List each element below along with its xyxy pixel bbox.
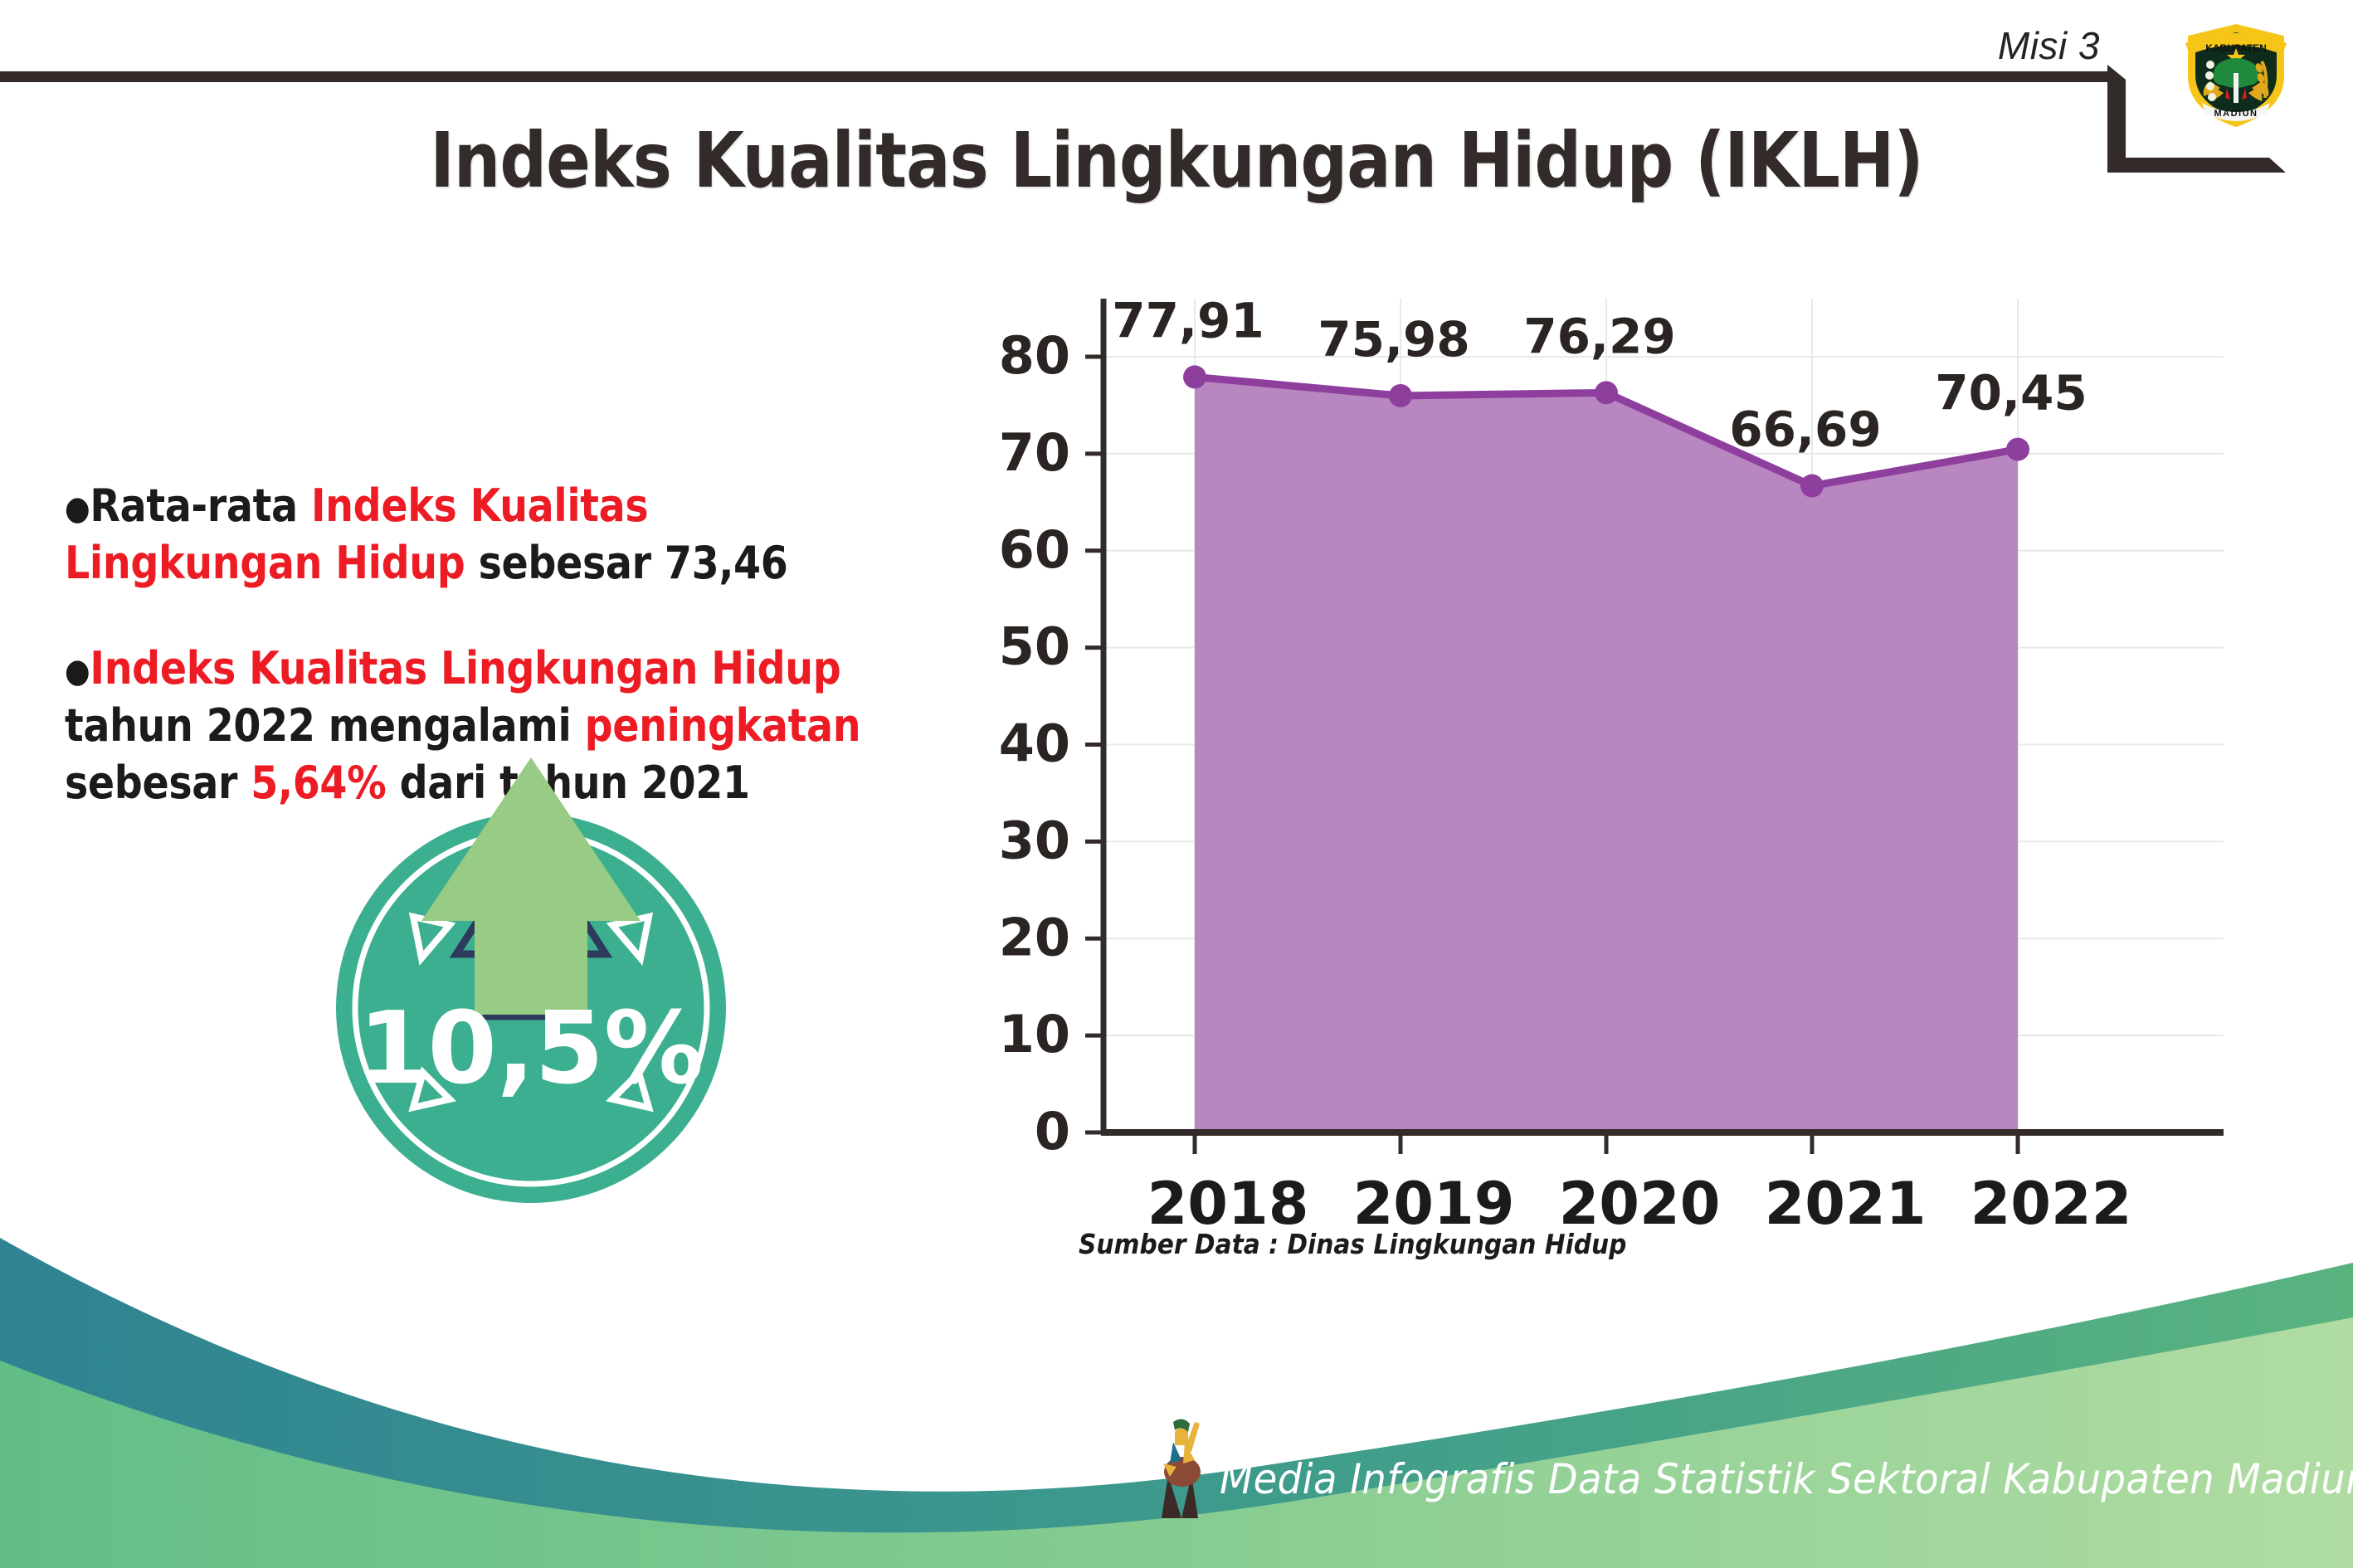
page-title: Indeks Kualitas Lingkungan Hidup (IKLH) <box>165 116 2189 205</box>
chart-value-label: 77,91 <box>1112 292 1264 348</box>
chart-y-tick-label: 0 <box>1035 1101 1070 1161</box>
slide-canvas: Misi 3 KABUPATEN <box>0 0 2353 1568</box>
chart-y-tick-label: 70 <box>999 422 1070 483</box>
bullet-dot-icon: ● <box>65 489 90 528</box>
increase-badge: 10,5% 10,5% <box>324 751 738 1215</box>
bullet-1-seg-2: sebesar 73,46 <box>465 537 787 589</box>
chart-y-tick-label: 50 <box>999 616 1070 677</box>
bullet-2-seg-1: tahun 2022 mengalami <box>65 699 585 752</box>
list-item: ●Rata-rata Indeks Kualitas Lingkungan Hi… <box>65 477 860 592</box>
bullet-dot-icon: ● <box>65 652 90 690</box>
badge-graphic: 10,5% <box>324 751 738 1215</box>
bullet-2-seg-2: peningkatan <box>585 699 861 752</box>
header-divider-rule <box>0 71 2112 82</box>
svg-text:10,5%: 10,5% <box>358 991 704 1107</box>
chart-y-tick-label: 60 <box>999 519 1070 580</box>
chart-marker <box>1595 381 1618 404</box>
bullet-2-seg-0: Indeks Kualitas Lingkungan Hidup <box>90 642 840 694</box>
chart-value-label: 70,45 <box>1935 365 2087 421</box>
chart-y-tick-label: 20 <box>999 907 1070 967</box>
chart-y-tick-label: 40 <box>999 713 1070 774</box>
misi-label: Misi 3 <box>1998 23 2100 68</box>
kabupaten-madiun-logo-icon: KABUPATEN MADIUN <box>2174 10 2298 134</box>
footer-caption: Media Infografis Data Statistik Sektoral… <box>1220 1455 2353 1503</box>
chart-value-label: 75,98 <box>1318 311 1469 368</box>
chart-value-label: 76,29 <box>1523 308 1675 364</box>
svg-text:MADIUN: MADIUN <box>2214 109 2258 119</box>
chart-marker <box>1800 475 1824 498</box>
bullet-1-seg-0: Rata-rata <box>90 480 310 532</box>
iklh-area-chart: 77,9175,9876,2966,6970,45 01020304050607… <box>979 274 2240 1269</box>
chart-marker <box>1389 384 1412 407</box>
chart-y-tick-label: 10 <box>999 1004 1070 1064</box>
chart-area-fill <box>1195 377 2018 1132</box>
chart-marker <box>1183 365 1206 388</box>
bullet-2-seg-3: sebesar <box>65 757 251 809</box>
chart-y-tick-label: 30 <box>999 810 1070 870</box>
chart-marker <box>2006 438 2029 461</box>
chart-y-tick-label: 80 <box>999 325 1070 386</box>
chart-value-label: 66,69 <box>1729 402 1881 458</box>
chart-y-axis-ticks: 01020304050607080 <box>999 325 1103 1161</box>
